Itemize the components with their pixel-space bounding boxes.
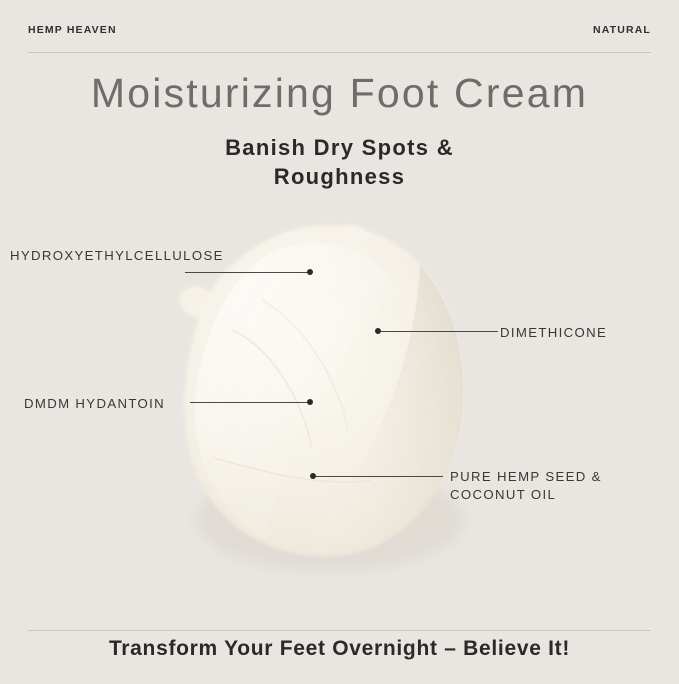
brand-descriptor: NATURAL xyxy=(593,24,651,36)
page-title: Moisturizing Foot Cream xyxy=(0,70,679,117)
cream-top-peak xyxy=(330,225,367,244)
brand-name: HEMP HEAVEN xyxy=(28,24,117,36)
cream-shading xyxy=(296,265,463,557)
page-subtitle-line-1: Banish Dry Spots & xyxy=(0,133,679,162)
cream-highlight xyxy=(195,243,398,540)
callout-label-dimethicone: DIMETHICONE xyxy=(500,324,607,342)
product-infographic: HEMP HEAVEN NATURAL Moisturizing Foot Cr… xyxy=(0,0,679,679)
callout-leader-pure-hemp-seed-coconut-oil xyxy=(316,476,443,477)
callout-label-hydroxyethylcellulose: HYDROXYETHYLCELLULOSE xyxy=(10,247,224,265)
callout-label-dmdm-hydantoin: DMDM HYDANTOIN xyxy=(24,395,165,413)
footer-tagline: Transform Your Feet Overnight – Believe … xyxy=(0,637,679,661)
callout-leader-dimethicone xyxy=(381,331,498,332)
footer-divider xyxy=(28,630,651,631)
brand-row: HEMP HEAVEN NATURAL xyxy=(28,24,651,40)
callout-dot-dmdm-hydantoin xyxy=(307,399,313,405)
callout-label-line-1: PURE HEMP SEED & xyxy=(450,468,650,486)
callout-dot-hydroxyethylcellulose xyxy=(307,269,313,275)
cream-shadow xyxy=(195,468,465,572)
header-divider xyxy=(28,52,651,53)
page-subtitle: Banish Dry Spots & Roughness xyxy=(0,133,679,191)
cream-swirl-2 xyxy=(262,300,348,430)
callout-leader-hydroxyethylcellulose xyxy=(185,272,309,273)
cream-body xyxy=(179,225,463,556)
cream-swirl-3 xyxy=(214,458,372,482)
callout-label-line-2: COCONUT OIL xyxy=(450,486,650,504)
page-subtitle-line-2: Roughness xyxy=(0,162,679,191)
cream-swirl-1 xyxy=(232,330,312,448)
callout-label-pure-hemp-seed-coconut-oil: PURE HEMP SEED & COCONUT OIL xyxy=(450,468,650,505)
callout-leader-dmdm-hydantoin xyxy=(190,402,309,403)
